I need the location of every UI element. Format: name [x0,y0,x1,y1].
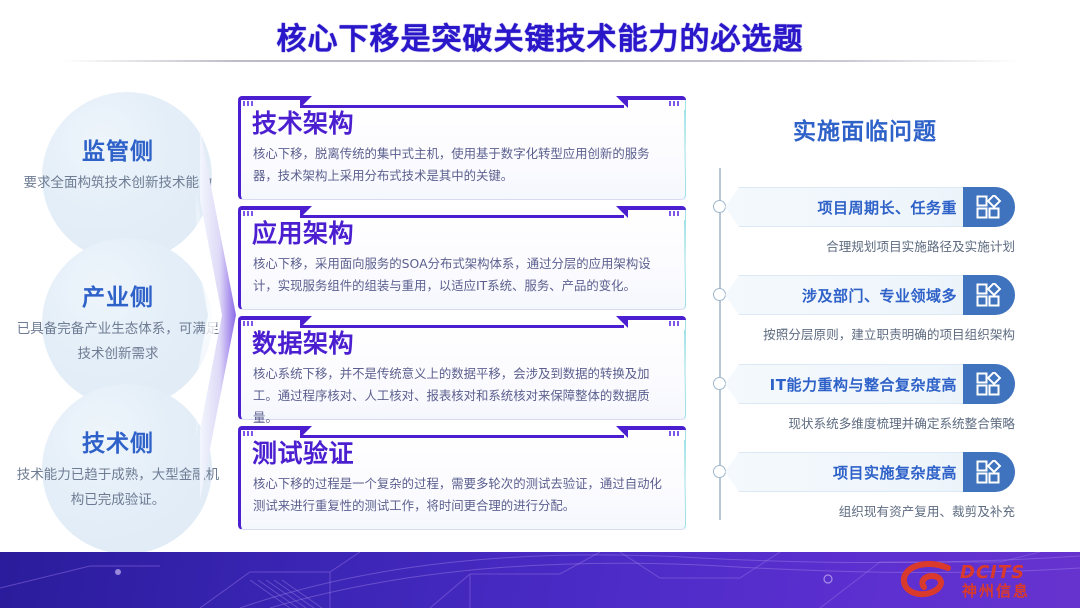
issue-subtext: 组织现有资产复用、裁剪及补充 [725,501,1015,520]
card-body: 核心下移，脱离传统的集中式主机，使用基于数字化转型应用创新的服务器，技术架构上采… [253,143,673,187]
footer-band: DCITS 神州信息 [0,552,1080,608]
card-right-glow [684,330,686,400]
grid-diamond-icon [963,187,1015,227]
card-title: 应用架构 [252,214,354,250]
chevron-right-icon [196,130,236,500]
card-top-right-bar [628,206,686,210]
card-top-right-bar [628,96,686,100]
issues-panel: 实施面临问题 项目周期长、任务重 合理规划项目实施路径及实施计划 涉及部门、专业… [700,96,1070,546]
card-top-right-bar [628,426,686,430]
card-tick-right-icon [669,321,681,326]
card-top-left-bar [238,96,300,100]
issues-panel-title: 实施面临问题 [700,112,1030,146]
logo-text-cn: 神州信息 [962,580,1030,601]
card-top-left-bar [238,316,300,320]
card-test-verification[interactable]: 测试验证 核心下移的过程是一个复杂的过程，需要多轮次的测试去验证，通过自动化测试… [238,426,686,530]
card-right-glow [684,220,686,290]
card-data-architecture[interactable]: 数据架构 核心系统下移，并不是传统意义上的数据平移，会涉及到数据的转换及加工。通… [238,316,686,420]
title-bar: 核心下移是突破关键技术能力的必选题 [0,0,1080,64]
issue-subtext: 现状系统多维度梳理并确定系统整合策略 [725,413,1015,432]
company-logo: DCITS 神州信息 [898,560,1068,602]
issue-label: 涉及部门、专业领域多 [743,275,963,315]
card-body: 核心系统下移，并不是传统意义上的数据平移，会涉及到数据的转换及加工。通过程序核对… [253,363,673,429]
grid-diamond-icon [963,364,1015,404]
issue-label: 项目周期长、任务重 [743,187,963,227]
logo-swirl-icon [898,560,956,600]
card-top-right-bar [628,316,686,320]
card-right-glow [684,110,686,180]
issue-label: IT能力重构与整合复杂度高 [743,364,963,404]
title-divider [62,60,1018,62]
card-tick-right-icon [669,211,681,216]
card-top-left-bar [238,206,300,210]
card-technical-architecture[interactable]: 技术架构 核心下移，脱离传统的集中式主机，使用基于数字化转型应用创新的服务器，技… [238,96,686,200]
card-application-architecture[interactable]: 应用架构 核心下移，采用面向服务的SOA分布式架构体系，通过分层的应用架构设计，… [238,206,686,310]
card-body: 核心下移，采用面向服务的SOA分布式架构体系，通过分层的应用架构设计，实现服务组… [253,253,673,297]
card-right-glow [684,440,686,510]
grid-diamond-icon [963,275,1015,315]
grid-diamond-icon [963,452,1015,492]
issue-item-it-capability[interactable]: IT能力重构与整合复杂度高 [725,364,1015,404]
issue-item-implementation[interactable]: 项目实施复杂度高 [725,452,1015,492]
card-tick-right-icon [669,431,681,436]
issue-label: 项目实施复杂度高 [743,452,963,492]
issue-item-project-cycle[interactable]: 项目周期长、任务重 [725,187,1015,227]
issue-item-departments[interactable]: 涉及部门、专业领域多 [725,275,1015,315]
card-title: 测试验证 [252,434,354,470]
card-title: 技术架构 [252,104,354,140]
page-title: 核心下移是突破关键技术能力的必选题 [0,14,1080,58]
card-title: 数据架构 [252,324,354,360]
card-tick-right-icon [669,101,681,106]
issue-subtext: 按照分层原则，建立职责明确的项目组织架构 [725,324,1015,343]
card-top-left-bar [238,426,300,430]
issue-subtext: 合理规划项目实施路径及实施计划 [725,236,1015,255]
card-body: 核心下移的过程是一个复杂的过程，需要多轮次的测试去验证，通过自动化测试来进行重复… [253,473,673,517]
architecture-cards: 技术架构 核心下移，脱离传统的集中式主机，使用基于数字化转型应用创新的服务器，技… [238,96,686,536]
